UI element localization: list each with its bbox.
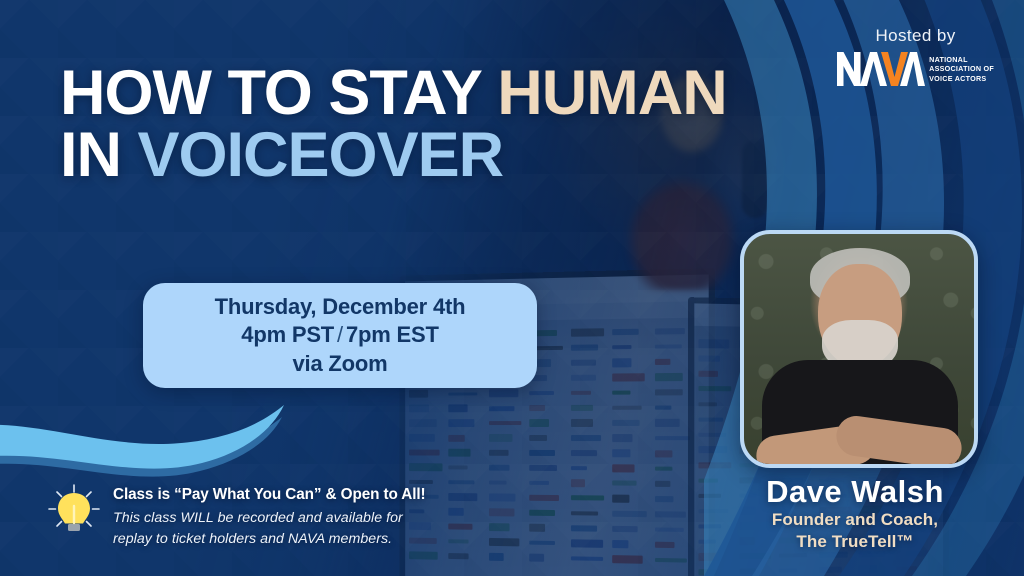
time-separator: / (334, 322, 346, 347)
event-time-est: 7pm EST (346, 322, 439, 347)
footer-note: Class is “Pay What You Can” & Open to Al… (113, 485, 443, 551)
hosted-by-label: Hosted by (837, 26, 994, 46)
event-platform: via Zoom (293, 350, 388, 379)
headline-text-white: HOW TO STAY (60, 58, 497, 128)
headline-text-blue: VOICEOVER (138, 120, 504, 190)
speaker-title-line-2: The TrueTell™ (700, 531, 1010, 553)
speaker-title: Founder and Coach, The TrueTell™ (700, 509, 1010, 553)
nava-sub-line-2: ASSOCIATION OF (929, 64, 994, 74)
lightbulb-icon (44, 482, 104, 540)
page-title: HOW TO STAY HUMAN IN VOICEOVER (60, 62, 727, 187)
speaker-name: Dave Walsh (700, 474, 1010, 510)
webinar-promo-poster: HOW TO STAY HUMAN IN VOICEOVER Thursday,… (0, 0, 1024, 576)
event-time-pst: 4pm PST (241, 322, 334, 347)
speaker-title-line-1: Founder and Coach, (700, 509, 1010, 531)
event-details-card: Thursday, December 4th 4pm PST/7pm EST v… (143, 283, 537, 388)
footer-note-body: This class WILL be recorded and availabl… (113, 508, 443, 551)
footer-note-headline: Class is “Pay What You Can” & Open to Al… (113, 485, 443, 506)
headline-text-cream: HUMAN (497, 58, 726, 128)
nava-sub-line-1: NATIONAL (929, 55, 994, 65)
footer-note-body-line-1: This class WILL be recorded and availabl… (113, 508, 443, 530)
headline-line-1: HOW TO STAY HUMAN (60, 62, 727, 124)
event-date: Thursday, December 4th (215, 293, 466, 322)
nava-logo-subtext: NATIONAL ASSOCIATION OF VOICE ACTORS (929, 55, 994, 84)
speaker-photo (740, 230, 978, 468)
nava-logo: NATIONAL ASSOCIATION OF VOICE ACTORS (837, 52, 994, 86)
footer-note-body-line-2: replay to ticket holders and NAVA member… (113, 529, 443, 551)
nava-wordmark-icon (837, 52, 925, 86)
headline-in-text: IN (60, 120, 138, 190)
hosted-by-block: Hosted by NATIONAL ASSOCIATION OF VOICE … (837, 26, 994, 86)
nava-sub-line-3: VOICE ACTORS (929, 74, 994, 84)
event-time: 4pm PST/7pm EST (241, 321, 438, 350)
headline-line-2: IN VOICEOVER (60, 124, 727, 186)
